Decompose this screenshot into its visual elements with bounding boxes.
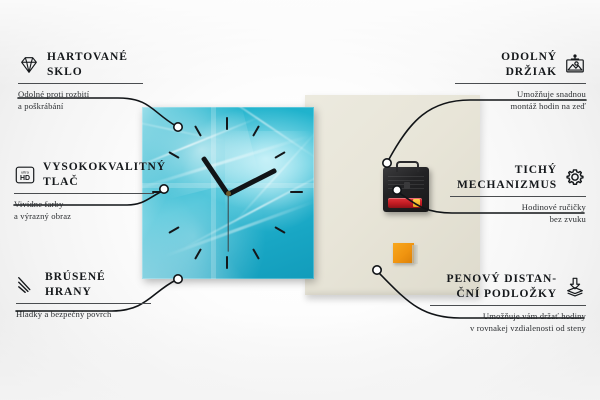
feature-divider [14, 193, 154, 194]
feature-desc-line2: a výrazný obraz [14, 211, 154, 223]
feature-divider [18, 83, 143, 84]
feature-desc-line1: Umožňuje vám držať hodiny [430, 311, 586, 323]
polished-edges-icon [16, 274, 38, 296]
feature-title-line1: PENOVÝ DISTAN- [447, 272, 557, 287]
feature-divider [16, 303, 151, 304]
feature-durable-hanger: ODOLNÝ DRŽIAK Umožňuje snadnou montáž ho… [455, 50, 586, 113]
feature-desc-line1: Hodinové ručičky [450, 202, 586, 214]
ultra-hd-badge-icon: ultra HD [14, 164, 36, 186]
clock-tick [226, 256, 228, 269]
infographic-canvas: HARTOVANÉ SKLO Odolné proti rozbití a po… [0, 0, 600, 400]
clock-mechanism [383, 167, 429, 212]
clock-tick [290, 191, 303, 193]
svg-text:ultra: ultra [21, 169, 29, 174]
feature-high-quality-print: ultra HD VYSOKOKVALITNÝ TLAČ Vivídne far… [14, 160, 154, 223]
feature-desc-line2: montáž hodin na zeď [455, 101, 586, 113]
clock-second-hand [227, 194, 228, 252]
feature-title-line2: DRŽIAK [501, 65, 557, 80]
feature-title-line1: TICHÝ [457, 163, 557, 178]
feature-heading: BRÚSENÉ HRANY [16, 270, 151, 299]
clock-center-hub [226, 191, 231, 196]
feature-divider [430, 305, 586, 306]
clock-tick [226, 117, 228, 130]
foam-spacer-icon [564, 276, 586, 298]
feature-desc-line2: a poškrábání [18, 101, 143, 113]
feature-title-line2: SKLO [47, 65, 128, 80]
feature-heading: TICHÝ MECHANIZMUS [450, 163, 586, 192]
foam-spacer-pad [393, 243, 414, 263]
feature-desc-line1: Umožňuje snadnou [455, 89, 586, 101]
feature-heading: HARTOVANÉ SKLO [18, 50, 143, 79]
feature-title-line2: ČNÍ PODLOŽKY [447, 287, 557, 302]
clock-tick [168, 226, 179, 234]
feature-title-line1: VYSOKOKVALITNÝ [43, 160, 166, 175]
feature-title-line2: HRANY [45, 285, 106, 300]
feature-desc-line1: Hladký a bezpečný povrch [16, 309, 151, 321]
glass-reflection-horizontal [142, 183, 314, 188]
feature-silent-mechanism: TICHÝ MECHANIZMUS Hodinové ručičky bez z… [450, 163, 586, 226]
battery [388, 198, 422, 208]
feature-desc-line2: bez zvuku [450, 214, 586, 226]
gear-icon [564, 167, 586, 189]
picture-hanger-icon [564, 54, 586, 76]
feature-heading: ODOLNÝ DRŽIAK [455, 50, 586, 79]
feature-title-line1: HARTOVANÉ [47, 50, 128, 65]
feature-divider [450, 196, 586, 197]
wall-clock-face [142, 107, 314, 279]
feature-title-line1: ODOLNÝ [501, 50, 557, 65]
svg-text:HD: HD [20, 175, 30, 182]
feature-divider [455, 83, 586, 84]
feature-hardened-glass: HARTOVANÉ SKLO Odolné proti rozbití a po… [18, 50, 143, 113]
feature-heading: ultra HD VYSOKOKVALITNÝ TLAČ [14, 160, 154, 189]
diamond-icon [18, 54, 40, 76]
feature-heading: PENOVÝ DISTAN- ČNÍ PODLOŽKY [430, 272, 586, 301]
clock-tick [252, 248, 260, 259]
feature-title-line2: MECHANIZMUS [457, 178, 557, 193]
mechanism-hanger-icon [396, 161, 419, 172]
product-photo [140, 95, 480, 300]
clock-tick [194, 248, 202, 259]
feature-title-line2: TLAČ [43, 175, 166, 190]
feature-title-line1: BRÚSENÉ [45, 270, 106, 285]
mechanism-shaft [404, 182, 410, 189]
feature-desc-line1: Vivídne farby [14, 199, 154, 211]
glass-reflection-vertical [211, 107, 216, 279]
feature-desc-line1: Odolné proti rozbití [18, 89, 143, 101]
feature-foam-spacers: PENOVÝ DISTAN- ČNÍ PODLOŽKY Umožňuje vám… [430, 272, 586, 335]
feature-desc-line2: v rovnakej vzdialenosti od steny [430, 323, 586, 335]
feature-polished-edges: BRÚSENÉ HRANY Hladký a bezpečný povrch [16, 270, 151, 321]
